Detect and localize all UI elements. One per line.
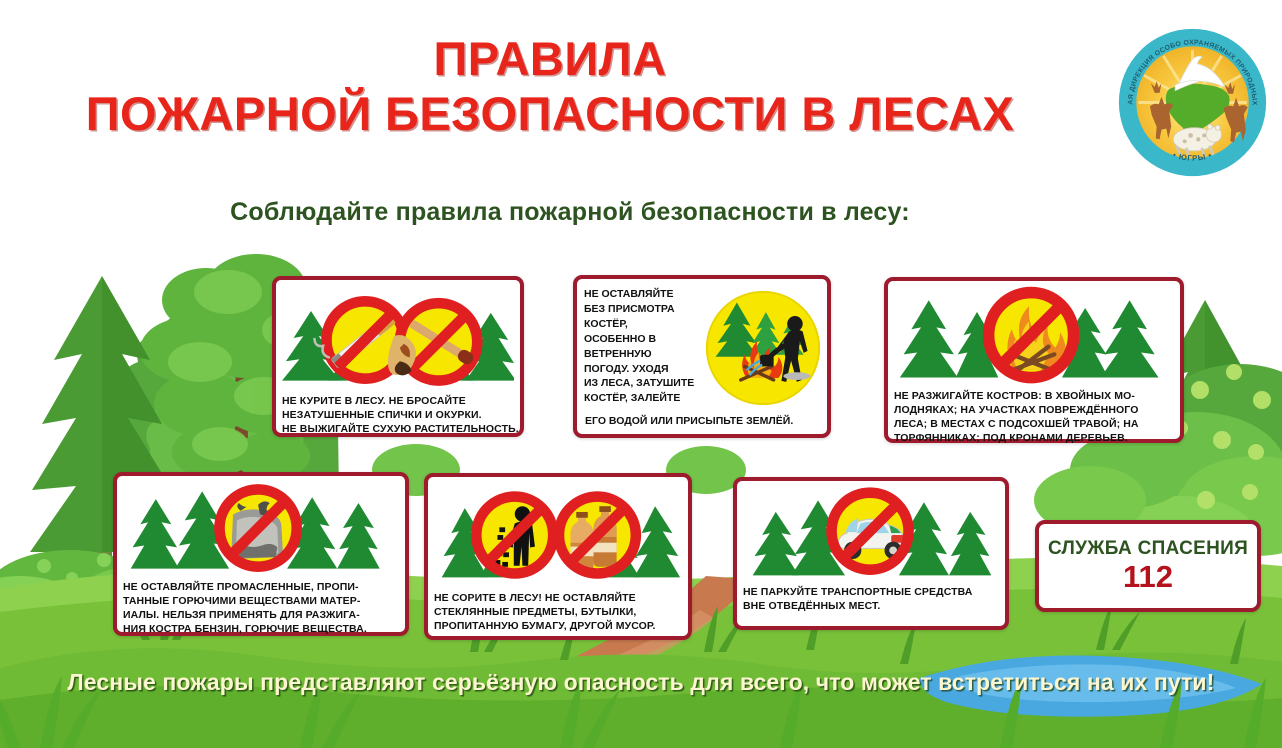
no-parking-sign: [832, 493, 909, 570]
caption-line: ИАЛЫ. НЕЛЬЗЯ ПРИМЕНЯТЬ ДЛЯ РАЗЖИГА-: [123, 609, 399, 623]
card-no-parking: НЕ ПАРКУЙТЕ ТРАНСПОРТНЫЕ СРЕДСТВА ВНЕ ОТ…: [733, 477, 1009, 630]
card-caption: НЕ РАЗЖИГАЙТЕ КОСТРОВ: В ХВОЙНЫХ МО- ЛОД…: [894, 390, 1174, 446]
caption-line: ОСОБЕННО В: [584, 332, 702, 347]
caption-line: БЕЗ ПРИСМОТРА: [584, 302, 702, 317]
no-bottles-sign: [559, 497, 636, 574]
caption-line: НЕЗАТУШЕННЫЕ СПИЧКИ И ОКУРКИ.: [282, 409, 514, 423]
poster-root: ПРАВИЛА ПОЖАРНОЙ БЕЗОПАСНОСТИ В ЛЕСАХ Со…: [0, 0, 1282, 748]
caption-line: ЛЕСА; В МЕСТАХ С ПОДСОХШЕЙ ТРАВОЙ; НА: [894, 418, 1174, 432]
card-no-smoking: НЕ КУРИТЕ В ЛЕСУ. НЕ БРОСАЙТЕ НЕЗАТУШЕНН…: [272, 276, 524, 437]
card-no-oily-materials: НЕ ОСТАВЛЯЙТЕ ПРОМАСЛЕННЫЕ, ПРОПИ- ТАННЫ…: [113, 472, 409, 636]
caption-line: НЕ КУРИТЕ В ЛЕСУ. НЕ БРОСАЙТЕ: [282, 395, 514, 409]
caption-line: ПОГОДУ. УХОДЯ: [584, 362, 702, 377]
no-littering-sign: [476, 497, 553, 574]
caption-line: КОСТЁР, ЗАЛЕЙТЕ: [584, 391, 702, 406]
card-unattended-campfire: НЕ ОСТАВЛЯЙТЕ БЕЗ ПРИСМОТРА КОСТЁР, ОСОБ…: [573, 275, 831, 438]
poster-title: ПРАВИЛА ПОЖАРНОЙ БЕЗОПАСНОСТИ В ЛЕСАХ: [0, 34, 1100, 140]
title-line-2: ПОЖАРНОЙ БЕЗОПАСНОСТИ В ЛЕСАХ: [0, 89, 1100, 140]
no-littering-no-bottles-icon: [434, 482, 682, 590]
caption-line: НЕ РАЗЖИГАЙТЕ КОСТРОВ: В ХВОЙНЫХ МО-: [894, 390, 1174, 404]
caption-line: СТЕКЛЯННЫЕ ПРЕДМЕТЫ, БУТЫЛКИ,: [434, 606, 682, 620]
poster-subtitle: Соблюдайте правила пожарной безопасности…: [0, 198, 1140, 227]
card-no-littering: НЕ СОРИТЕ В ЛЕСУ! НЕ ОСТАВЛЯЙТЕ СТЕКЛЯНН…: [424, 473, 692, 640]
rescue-service-label: СЛУЖБА СПАСЕНИЯ: [1048, 538, 1248, 560]
bottom-banner-text: Лесные пожары представляют серьёзную опа…: [0, 669, 1282, 696]
caption-line: НЕ СОРИТЕ В ЛЕСУ! НЕ ОСТАВЛЯЙТЕ: [434, 592, 682, 606]
no-campfire-sign: [989, 293, 1074, 378]
extinguish-campfire-icon: [702, 287, 824, 409]
caption-line: ВНЕ ОТВЕДЁННЫХ МЕСТ.: [743, 600, 999, 614]
no-oily-rags-sign: [220, 489, 297, 566]
card-caption: НЕ ОСТАВЛЯЙТЕ БЕЗ ПРИСМОТРА КОСТЁР, ОСОБ…: [584, 287, 702, 406]
card-caption: НЕ КУРИТЕ В ЛЕСУ. НЕ БРОСАЙТЕ НЕЗАТУШЕНН…: [282, 395, 514, 437]
card-caption: НЕ ОСТАВЛЯЙТЕ ПРОМАСЛЕННЫЕ, ПРОПИ- ТАННЫ…: [123, 581, 399, 637]
card-caption: НЕ ПАРКУЙТЕ ТРАНСПОРТНЫЕ СРЕДСТВА ВНЕ ОТ…: [743, 586, 999, 614]
caption-last-line: ЕГО ВОДОЙ ИЛИ ПРИСЫПЬТЕ ЗЕМЛЁЙ.: [585, 415, 793, 427]
caption-line: НЕ ОСТАВЛЯЙТЕ: [584, 287, 702, 302]
caption-line: НЕ ВЫЖИГАЙТЕ СУХУЮ РАСТИТЕЛЬНОСТЬ.: [282, 423, 514, 437]
caption-line: ВЕТРЕННУЮ: [584, 347, 702, 362]
caption-line: ПРОПИТАННУЮ БУМАГУ, ДРУГОЙ МУСОР.: [434, 620, 682, 634]
rescue-service-box: СЛУЖБА СПАСЕНИЯ 112: [1035, 520, 1261, 612]
caption-line: НЕ ОСТАВЛЯЙТЕ ПРОМАСЛЕННЫЕ, ПРОПИ-: [123, 581, 399, 595]
no-smoking-no-matches-icon: [282, 285, 514, 393]
caption-line: ИЗ ЛЕСА, ЗАТУШИТЕ: [584, 376, 702, 391]
caption-line: КОСТЁР,: [584, 317, 702, 332]
title-line-1: ПРАВИЛА: [0, 34, 1100, 85]
card-no-campfire: НЕ РАЗЖИГАЙТЕ КОСТРОВ: В ХВОЙНЫХ МО- ЛОД…: [884, 277, 1184, 443]
caption-line: НЕ ПАРКУЙТЕ ТРАНСПОРТНЫЕ СРЕДСТВА: [743, 586, 999, 600]
caption-line: ЛОДНЯКАХ; НА УЧАСТКАХ ПОВРЕЖДЁННОГО: [894, 404, 1174, 418]
no-campfire-icon: [894, 286, 1174, 388]
ohrana-prirody-ugra-logo: ОБЪЕДИНЕННАЯ ДИРЕКЦИЯ ОСОБО ОХРАНЯЕМЫХ П…: [1115, 25, 1270, 180]
card-caption: НЕ СОРИТЕ В ЛЕСУ! НЕ ОСТАВЛЯЙТЕ СТЕКЛЯНН…: [434, 592, 682, 634]
caption-line: ТОРФЯННИКАХ; ПОД КРОНАМИ ДЕРЕВЬЕВ.: [894, 432, 1174, 446]
no-oily-rags-icon: [123, 481, 399, 579]
rescue-service-number: 112: [1123, 561, 1173, 594]
caption-line: НИЯ КОСТРА БЕНЗИН, ГОРЮЧИЕ ВЕЩЕСТВА.: [123, 623, 399, 637]
no-parking-car-icon: [743, 486, 999, 584]
caption-line: ТАННЫЕ ГОРЮЧИМИ ВЕЩЕСТВАМИ МАТЕР-: [123, 595, 399, 609]
